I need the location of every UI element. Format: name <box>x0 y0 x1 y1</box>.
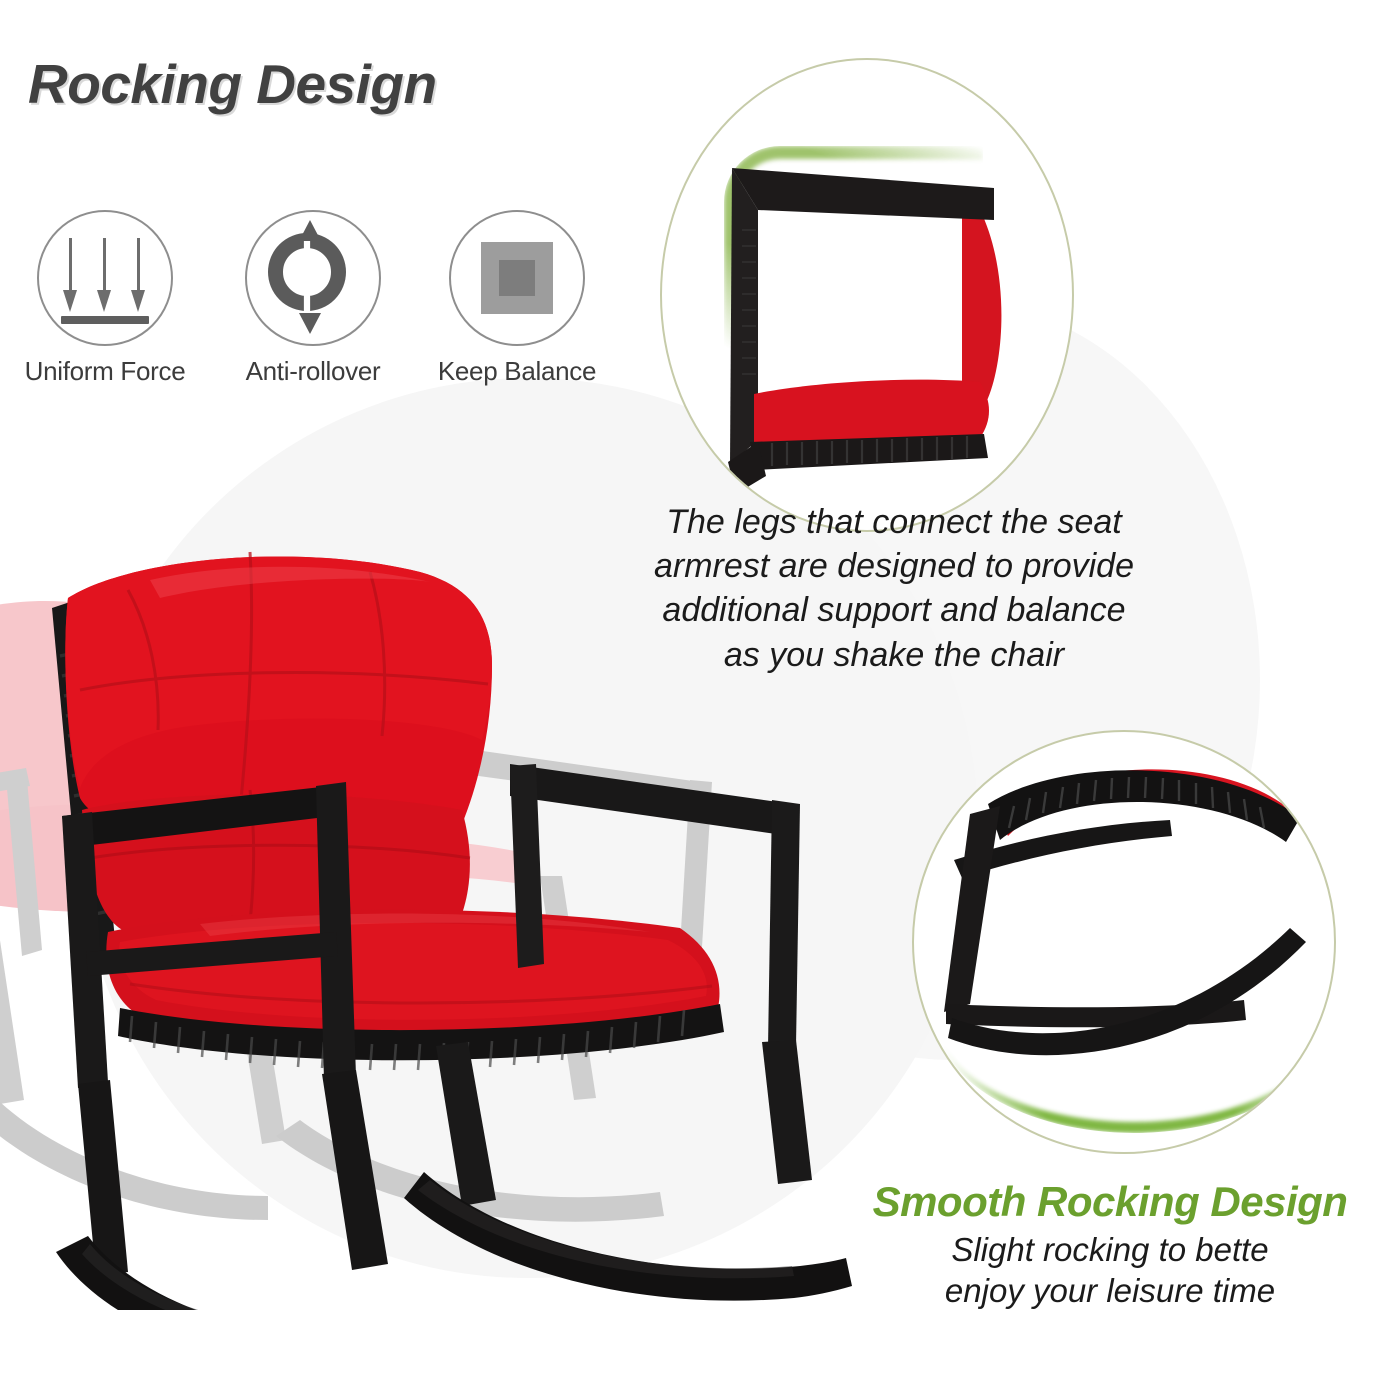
armrest-seat-photo <box>662 60 1072 530</box>
caption-title: Smooth Rocking Design <box>840 1178 1380 1225</box>
feature-keep-balance: Keep Balance <box>432 210 602 387</box>
green-arc-swoosh <box>934 892 1334 1133</box>
caption-line: enjoy your leisure time <box>840 1270 1380 1311</box>
feature-anti-rollover: Anti-rollover <box>228 210 398 387</box>
feature-uniform-force: Uniform Force <box>20 210 190 387</box>
inset-armrest-seat-closeup <box>660 58 1074 532</box>
feature-label: Keep Balance <box>432 356 602 387</box>
rocking-chair-illustration <box>0 480 880 1310</box>
page-title: Rocking Design <box>28 52 437 116</box>
caption-subtitle: Slight rocking to bette enjoy your leisu… <box>840 1229 1380 1312</box>
infographic-canvas: Rocking Design Uniform Force Anti-rollov… <box>0 0 1383 1383</box>
circular-arrows-icon <box>245 210 381 346</box>
feature-label: Uniform Force <box>20 356 190 387</box>
nested-squares-icon <box>449 210 585 346</box>
feature-label: Anti-rollover <box>228 356 398 387</box>
down-arrows-on-bar-icon <box>37 210 173 346</box>
main-product-photo <box>0 480 880 1310</box>
inset-rocker-base-closeup <box>912 730 1336 1154</box>
caption-line: Slight rocking to bette <box>840 1229 1380 1270</box>
caption-smooth-rocking: Smooth Rocking Design Slight rocking to … <box>840 1178 1380 1312</box>
